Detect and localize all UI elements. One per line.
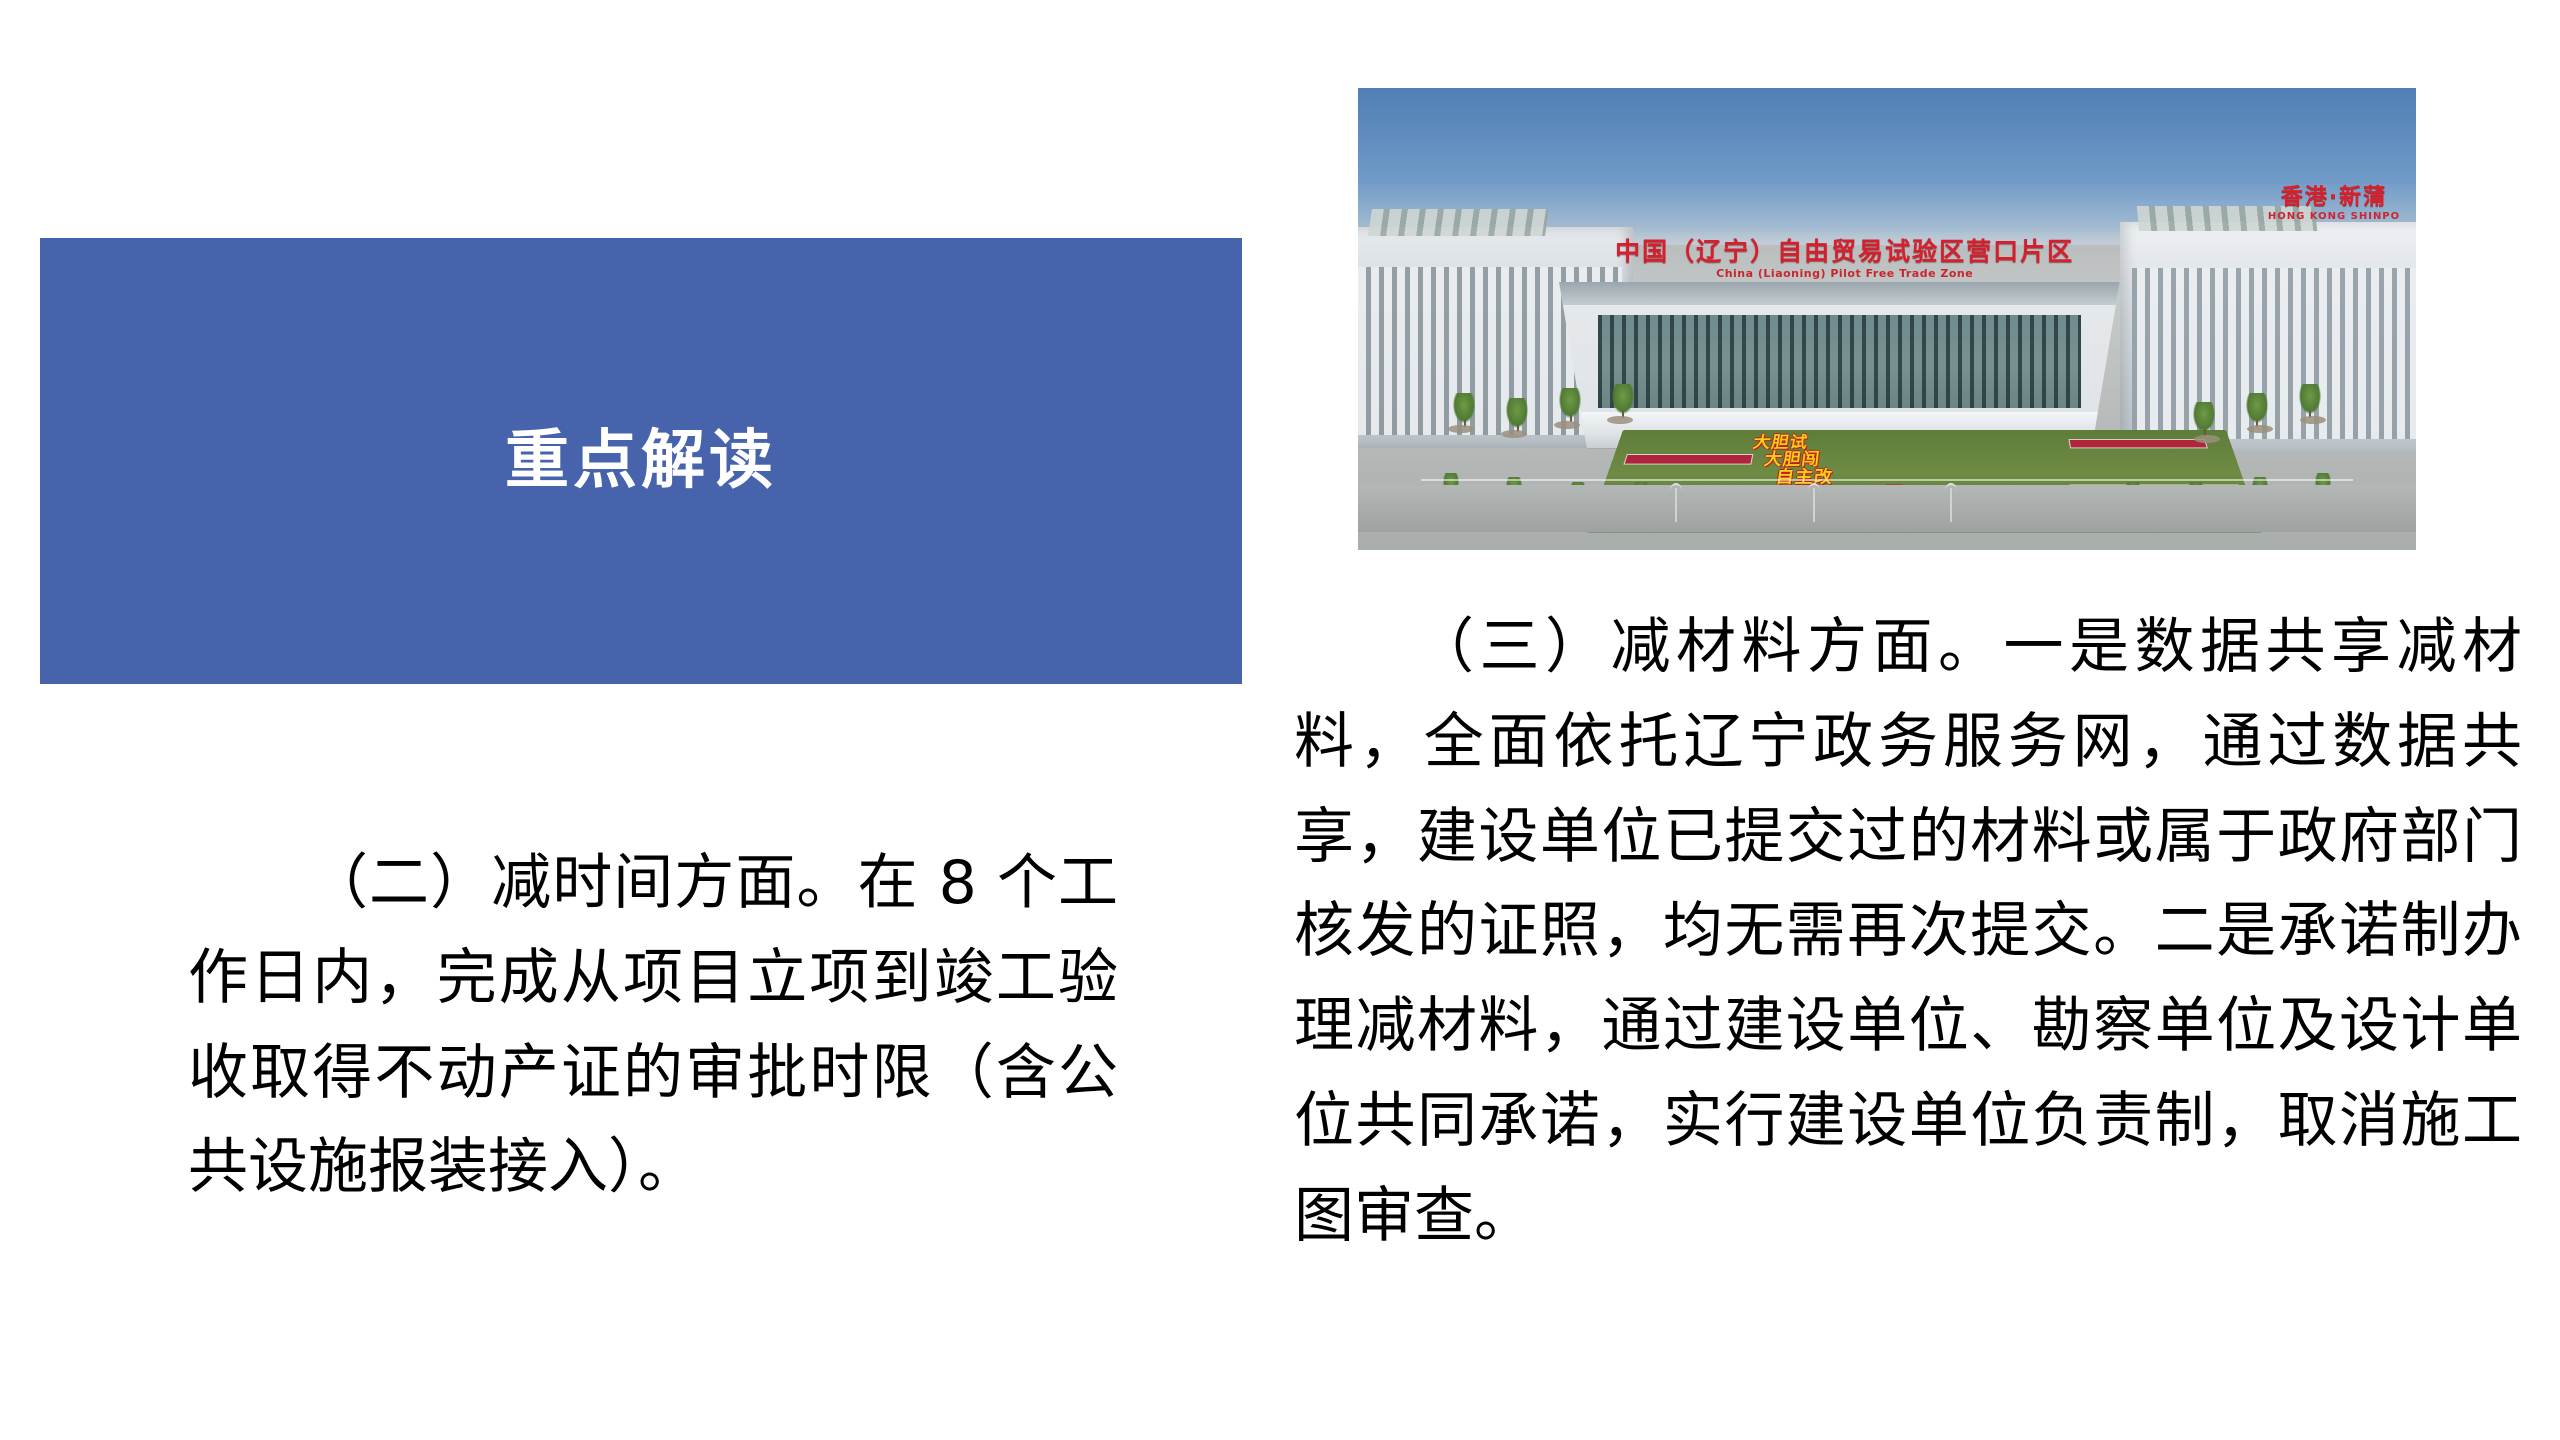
slide-canvas: 重点解读 （二）减时间方面。在 8 个工作日内，完成从项目立项到竣工验收取得不动… — [0, 0, 2560, 1440]
side-roof-sign-en: HONG KONG SHINPO — [2268, 212, 2400, 222]
main-building — [1559, 282, 2120, 448]
photo-content: 香港·新蒲 HONG KONG SHINPO 中国（辽宁）自由贸易试验区营口片区… — [1358, 88, 2416, 550]
tree — [1612, 384, 1634, 414]
tree-planter — [1607, 416, 1633, 424]
left-body-paragraph: （二）减时间方面。在 8 个工作日内，完成从项目立项到竣工验收取得不动产证的审批… — [188, 836, 1118, 1215]
tree-planter — [1501, 430, 1527, 438]
tree-planter — [1554, 421, 1580, 429]
page-title: 重点解读 — [505, 423, 777, 500]
right-body-paragraph: （三）减材料方面。一是数据共享减材料，全面依托辽宁政务服务网，通过数据共享，建设… — [1294, 600, 2522, 1264]
main-building-curtain-wall — [1598, 315, 2080, 408]
tree-planter — [2300, 416, 2326, 424]
flowerbed — [1623, 454, 1752, 464]
tree — [2193, 402, 2215, 432]
tree — [2246, 393, 2268, 423]
plaza-walkway — [1358, 485, 2416, 531]
side-roof-sign: 香港·新蒲 HONG KONG SHINPO — [2268, 187, 2400, 222]
tree-planter — [2194, 435, 2220, 443]
side-roof-sign-cn: 香港·新蒲 — [2268, 187, 2400, 209]
main-building-cornice — [1559, 282, 2120, 305]
free-trade-zone-photo: 香港·新蒲 HONG KONG SHINPO 中国（辽宁）自由贸易试验区营口片区… — [1358, 88, 2416, 550]
plaza-curb — [1421, 479, 2352, 481]
tree — [1453, 393, 1475, 423]
street-lamp — [1813, 488, 1815, 522]
left-roof-equipment — [1368, 209, 1549, 236]
street-lamp — [1950, 488, 1952, 522]
street-lamp — [1675, 488, 1677, 522]
main-roof-sign-cn: 中国（辽宁）自由贸易试验区营口片区 — [1570, 239, 2120, 264]
tree — [2299, 384, 2321, 414]
flowerbed — [2068, 439, 2207, 448]
right-facade-fins — [2132, 268, 2416, 439]
tree — [1506, 398, 1528, 428]
main-roof-sign-en: China (Liaoning) Pilot Free Trade Zone — [1570, 268, 2120, 279]
main-roof-sign: 中国（辽宁）自由贸易试验区营口片区 China (Liaoning) Pilot… — [1570, 239, 2120, 279]
title-banner: 重点解读 — [40, 238, 1242, 684]
tree — [1559, 388, 1581, 418]
